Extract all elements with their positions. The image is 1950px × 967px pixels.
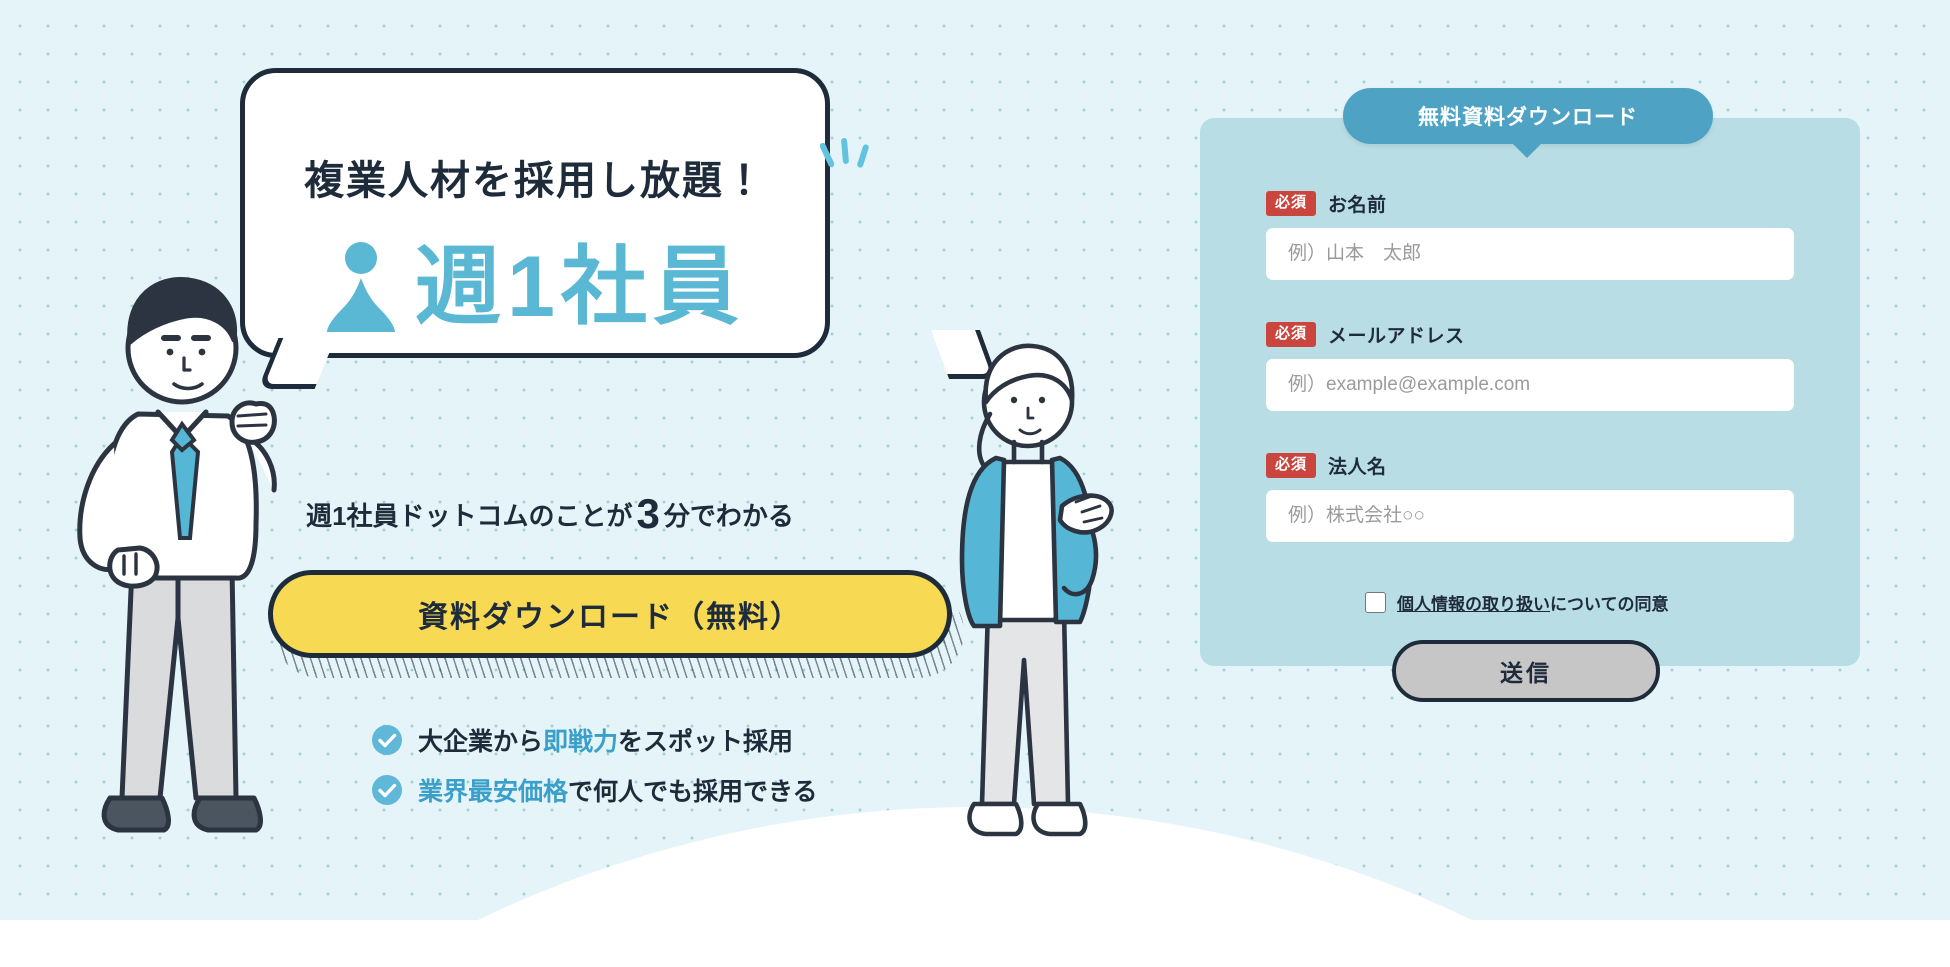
consent-label: 個人情報の取り扱いについての同意	[1397, 590, 1669, 615]
brand-logo-text: 週1社員	[415, 244, 745, 330]
cta-wrapper: 資料ダウンロード（無料）	[268, 570, 958, 675]
download-cta-button[interactable]: 資料ダウンロード（無料）	[268, 570, 952, 658]
required-badge: 必須	[1266, 191, 1316, 216]
field-label: 法人名	[1328, 452, 1387, 479]
hero-section: 複業人材を採用し放題！ 週1社員 週1社員ドットコムのことが3分でわかる 資料ダ…	[0, 0, 1160, 967]
field-header: 必須 お名前	[1266, 190, 1794, 217]
businesswoman-illustration	[930, 330, 1130, 860]
businessman-illustration	[60, 238, 310, 858]
brand-logo: 週1社員	[240, 238, 830, 336]
benefit-after: で何人でも採用できる	[568, 778, 818, 806]
person-mountain-icon	[325, 238, 397, 336]
form-tab-arrow-icon	[1511, 142, 1543, 158]
field-header: 必須 メールアドレス	[1266, 321, 1794, 348]
benefit-after: をスポット採用	[618, 728, 793, 756]
hero-subline: 週1社員ドットコムのことが3分でわかる	[240, 490, 860, 538]
list-item: 大企業から即戦力をスポット採用	[372, 722, 818, 758]
subline-number: 3	[637, 490, 660, 537]
hero-headline: 複業人材を採用し放題！	[240, 148, 830, 206]
consent-tail: についての同意	[1550, 595, 1669, 614]
benefit-highlight: 即戦力	[543, 728, 618, 756]
benefit-text: 大企業から即戦力をスポット採用	[418, 722, 793, 758]
form-title-tab: 無料資料ダウンロード	[1343, 88, 1713, 144]
field-email: 必須 メールアドレス	[1266, 321, 1794, 411]
sparkle-icon	[818, 140, 878, 190]
benefit-before: 大企業から	[418, 728, 543, 756]
check-circle-icon	[372, 775, 402, 805]
consent-row: 個人情報の取り扱いについての同意	[1365, 590, 1669, 615]
subline-after: 分でわかる	[664, 501, 794, 531]
field-company: 必須 法人名	[1266, 452, 1794, 542]
company-input[interactable]	[1266, 490, 1794, 542]
field-label: お名前	[1328, 190, 1387, 217]
privacy-policy-link[interactable]: 個人情報の取り扱い	[1397, 595, 1550, 614]
consent-checkbox[interactable]	[1365, 592, 1386, 613]
name-input[interactable]	[1266, 228, 1794, 280]
field-name: 必須 お名前	[1266, 190, 1794, 280]
subline-before: 週1社員ドットコムのことが	[306, 501, 632, 531]
required-badge: 必須	[1266, 322, 1316, 347]
benefit-list: 大企業から即戦力をスポット採用 業界最安価格で何人でも採用できる	[372, 722, 818, 822]
email-input[interactable]	[1266, 359, 1794, 411]
check-circle-icon	[372, 725, 402, 755]
list-item: 業界最安価格で何人でも採用できる	[372, 772, 818, 808]
field-header: 必須 法人名	[1266, 452, 1794, 479]
benefit-highlight: 業界最安価格	[418, 778, 568, 806]
field-label: メールアドレス	[1328, 321, 1465, 348]
submit-button[interactable]: 送信	[1392, 640, 1660, 702]
required-badge: 必須	[1266, 453, 1316, 478]
landing-page: 複業人材を採用し放題！ 週1社員 週1社員ドットコムのことが3分でわかる 資料ダ…	[0, 0, 1950, 967]
benefit-text: 業界最安価格で何人でも採用できる	[418, 772, 818, 808]
